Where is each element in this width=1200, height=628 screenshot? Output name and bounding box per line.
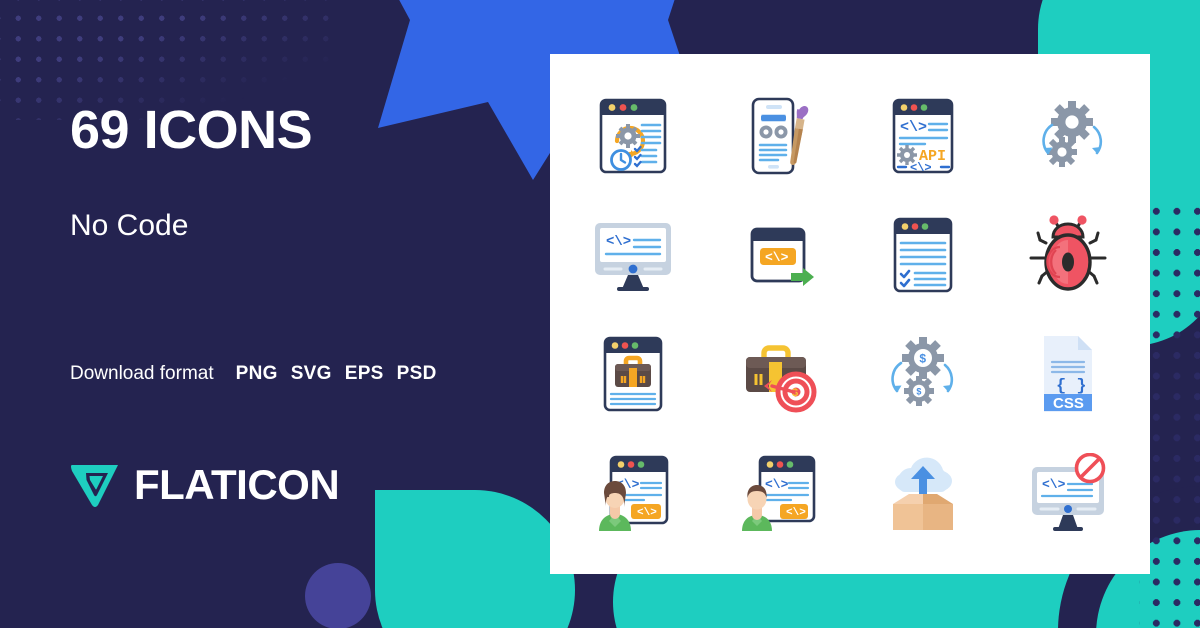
format-psd[interactable]: PSD [397, 363, 437, 385]
mobile-design-icon [740, 94, 816, 178]
flaticon-wordmark: FLATICON [134, 464, 339, 506]
icon-cell-gears-sync[interactable] [995, 76, 1140, 195]
svg-text:{ }: { } [1056, 377, 1087, 396]
svg-text:<\>: <\> [900, 119, 927, 136]
icon-cell-bug[interactable] [995, 195, 1140, 314]
no-code-monitor-icon: <\> [1024, 453, 1112, 533]
promo-text-column: 69 ICONS No Code Download format PNG SVG… [70, 0, 540, 628]
svg-text:<\>: <\> [786, 507, 806, 519]
agile-window-icon [595, 94, 671, 178]
icon-grid: <\> API <\> [550, 54, 1150, 574]
icon-cell-desktop-code[interactable]: <\> [560, 195, 705, 314]
icon-cell-business-target[interactable]: $ [705, 314, 850, 433]
css-file-icon: { } CSS [1034, 332, 1102, 416]
flaticon-logo[interactable]: FLATICON [70, 462, 339, 508]
icon-cell-checklist-window[interactable] [850, 195, 995, 314]
icon-cell-money-gears[interactable]: $ $ [850, 314, 995, 433]
gears-sync-icon [1026, 95, 1110, 177]
svg-text:<\>: <\> [1042, 477, 1066, 492]
svg-text:CSS: CSS [1053, 395, 1084, 412]
female-developer-icon: <\> <\> [591, 451, 675, 535]
svg-text:$: $ [916, 386, 921, 396]
icon-cell-agile-window[interactable] [560, 76, 705, 195]
icon-cell-css-file[interactable]: { } CSS [995, 314, 1140, 433]
flaticon-logo-icon [70, 462, 120, 508]
format-eps[interactable]: EPS [345, 363, 384, 385]
format-svg[interactable]: SVG [291, 363, 332, 385]
svg-text:<\>: <\> [765, 250, 789, 265]
cloud-upload-box-icon [879, 454, 967, 532]
male-developer-icon: <\> <\> [736, 451, 820, 535]
download-format-label: Download format [70, 363, 214, 385]
svg-text:<\>: <\> [910, 161, 932, 175]
format-png[interactable]: PNG [236, 363, 278, 385]
icon-cell-male-developer[interactable]: <\> <\> [705, 433, 850, 552]
portfolio-window-icon [595, 332, 671, 416]
icon-cell-portfolio-window[interactable] [560, 314, 705, 433]
icon-cell-code-transfer[interactable]: <\> [705, 195, 850, 314]
bug-icon [1026, 214, 1110, 296]
download-format-list: PNG SVG EPS PSD [236, 363, 437, 385]
page-subtitle: No Code [70, 211, 188, 241]
icon-cell-female-developer[interactable]: <\> <\> [560, 433, 705, 552]
desktop-code-icon: <\> [589, 217, 677, 293]
page-title: 69 ICONS [70, 103, 312, 157]
icon-cell-mobile-design[interactable] [705, 76, 850, 195]
icon-grid-card: <\> API <\> [550, 54, 1150, 574]
download-format-row: Download format PNG SVG EPS PSD [70, 363, 437, 385]
svg-text:<\>: <\> [637, 507, 657, 519]
promo-banner: 69 ICONS No Code Download format PNG SVG… [0, 0, 1200, 628]
svg-text:<\>: <\> [606, 234, 631, 250]
icon-cell-cloud-upload-box[interactable] [850, 433, 995, 552]
icon-cell-no-code-monitor[interactable]: <\> [995, 433, 1140, 552]
money-gears-icon: $ $ [881, 333, 965, 415]
code-transfer-icon: <\> [736, 215, 820, 295]
api-window-icon: <\> API <\> [885, 94, 961, 178]
business-target-icon: $ [734, 334, 822, 414]
svg-text:$: $ [919, 351, 926, 365]
icon-cell-api-window[interactable]: <\> API <\> [850, 76, 995, 195]
svg-text:<\>: <\> [765, 477, 789, 492]
checklist-window-icon [885, 213, 961, 297]
